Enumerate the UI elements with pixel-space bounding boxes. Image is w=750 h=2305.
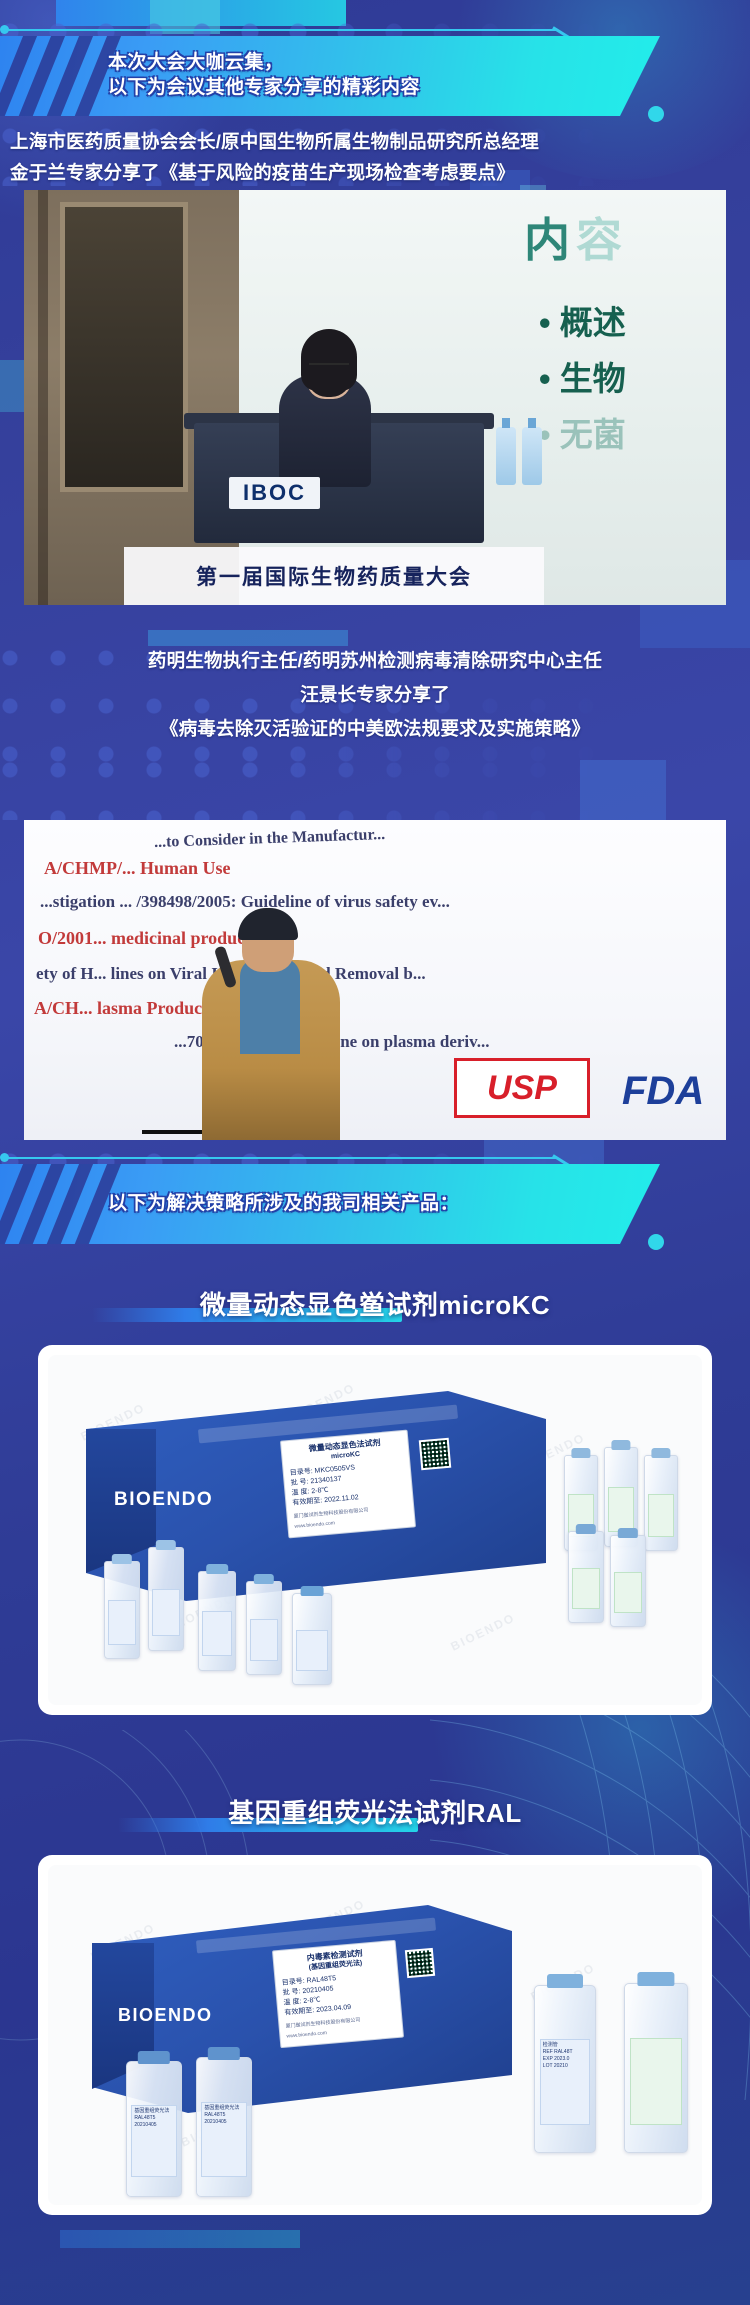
- product-1-vial-9: [246, 1581, 282, 1675]
- product-1-vial-3: [644, 1455, 678, 1551]
- banner-products-tail-dot: [648, 1234, 664, 1250]
- product-1-qr-code-icon: [419, 1438, 452, 1471]
- photo1-event-banner-text: 第一届国际生物药质量大会: [196, 561, 472, 591]
- product-2-vial-row-0: REF RAL48T: [543, 2049, 587, 2056]
- product-1-vial-7: [148, 1547, 184, 1651]
- banner-top: 本次大会大咖云集， 以下为会议其他专家分享的精彩内容: [0, 22, 750, 127]
- product-2-vial-left-2-ref: RAL48T5: [204, 2112, 243, 2119]
- photo1-speaker-hair: [301, 329, 357, 391]
- product-1-photo: BIOENDO BIOENDO BIOENDO BIOENDO BIOENDO …: [38, 1345, 712, 1715]
- product-2-vial-left-1: 基因重组荧光法 RAL48T5 20210405: [126, 2061, 182, 2197]
- banner-top-rule: [0, 28, 600, 31]
- speaker-2-name-line: 汪景长专家分享了: [0, 679, 750, 711]
- photo1-doorframe: [60, 202, 188, 492]
- banner-products-rule: [0, 1156, 600, 1159]
- photo2-speaker-shirt: [240, 958, 300, 1054]
- deco-bar-bottom: [60, 2230, 300, 2248]
- product-2-label: 内毒素检测试剂 (基因重组荧光法) 目录号: RAL48T5 批 号: 2021…: [272, 1940, 404, 2048]
- dots-band-5: [0, 760, 750, 820]
- product-1-vial-6: [104, 1561, 140, 1659]
- product-2-vial-right-2: [624, 1983, 688, 2153]
- speaker-2-photo: ...to Consider in the Manufactur... A/CH…: [24, 820, 726, 1140]
- speaker-2-share: 《病毒去除灭活验证的中美欧法规要求及实施策略》: [0, 713, 750, 745]
- product-2-title: 基因重组荧光法试剂RAL: [0, 1793, 750, 1830]
- banner-top-line1: 本次大会大咖云集，: [108, 50, 648, 75]
- product-2-vial-left-2: 基因重组荧光法 RAL48T5 20210405: [196, 2057, 252, 2197]
- product-1-watermark-5: BIOENDO: [448, 1610, 517, 1653]
- speaker-1-photo: 内容 • 概述 • 生物 • 无菌 IBOC 第一届国际生物药质量大会: [24, 190, 726, 605]
- product-1-brand: BIOENDO: [114, 1489, 213, 1511]
- speaker-1-share: 金于兰专家分享了《基于风险的疫苗生产现场检查考虑要点》: [0, 157, 750, 189]
- photo1-podium-logo: IBOC: [229, 477, 320, 509]
- photo1-water-bottle-2: [522, 427, 542, 485]
- product-2-photo-inner: BIOENDO BIOENDO BIOENDO BIOENDO BIOENDO …: [48, 1865, 702, 2205]
- product-1-vial-10: [292, 1593, 332, 1685]
- product-2-vial-left-2-lot: 20210405: [204, 2119, 243, 2126]
- banner-top-line2: 以下为会议其他专家分享的精彩内容: [108, 75, 648, 100]
- deco-bar-mid: [148, 630, 348, 646]
- product-2-qr-code-icon: [405, 1948, 435, 1978]
- photo2-usp-logo: USP: [454, 1058, 590, 1118]
- product-2-vial-right-1: 检测管 REF RAL48T EXP 2023.0 LOT 20210: [534, 1985, 596, 2153]
- poster-page: 本次大会大咖云集， 以下为会议其他专家分享的精彩内容 上海市医药质量协会会长/原…: [0, 0, 750, 2305]
- photo1-slide-title: 内容: [524, 204, 628, 270]
- product-1-vial-8: [198, 1571, 236, 1671]
- photo2-line-2: ...stigation ... /398498/2005: Guideline…: [40, 892, 450, 912]
- product-1-label: 微量动态显色法试剂 microKC 目录号: MKC0505VS 批 号: 21…: [280, 1430, 416, 1539]
- photo1-water-bottle-1: [496, 427, 516, 485]
- product-2-photo: BIOENDO BIOENDO BIOENDO BIOENDO BIOENDO …: [38, 1855, 712, 2215]
- product-2-vial-row-2: LOT 20210: [543, 2063, 587, 2070]
- product-1-photo-inner: BIOENDO BIOENDO BIOENDO BIOENDO BIOENDO …: [48, 1355, 702, 1705]
- photo2-line-5: A/CH... lasma Products: [34, 998, 215, 1019]
- banner-top-tail-dot: [648, 106, 664, 122]
- banner-products-line1: 以下为解决策略所涉及的我司相关产品：: [108, 1191, 648, 1216]
- product-2-vial-row-1: EXP 2023.0: [543, 2056, 587, 2063]
- photo1-event-banner: 第一届国际生物药质量大会: [124, 547, 544, 605]
- photo1-speaker-glasses: [309, 363, 349, 373]
- product-1-vial-5: [610, 1535, 646, 1627]
- photo2-line-3: O/2001... medicinal products: [38, 928, 258, 949]
- banner-products: 以下为解决策略所涉及的我司相关产品：: [0, 1150, 750, 1255]
- speaker-1-affiliation: 上海市医药质量协会会长/原中国生物所属生物制品研究所总经理: [0, 126, 750, 158]
- product-2-vial-left-1-ref: RAL48T5: [134, 2115, 173, 2122]
- product-2-vial-left-1-lot: 20210405: [134, 2122, 173, 2129]
- product-1-title: 微量动态显色鲎试剂microKC: [0, 1285, 750, 1322]
- photo1-slide-bullets: • 概述 • 生物 • 无菌: [539, 295, 626, 463]
- product-2-brand: BIOENDO: [118, 2005, 213, 2026]
- speaker-2-affiliation: 药明生物执行主任/药明苏州检测病毒清除研究中心主任: [0, 645, 750, 677]
- photo2-fda-logo: FDA: [622, 1069, 704, 1114]
- product-1-vial-4: [568, 1531, 604, 1623]
- photo2-line-1: A/CHMP/... Human Use: [44, 858, 231, 879]
- product-2-vial-front-title: 检测管: [543, 2042, 587, 2049]
- product-2-vial-left-2-title: 基因重组荧光法: [204, 2105, 243, 2112]
- product-2-vial-left-1-title: 基因重组荧光法: [134, 2108, 173, 2115]
- photo2-usp-text: USP: [487, 1069, 557, 1108]
